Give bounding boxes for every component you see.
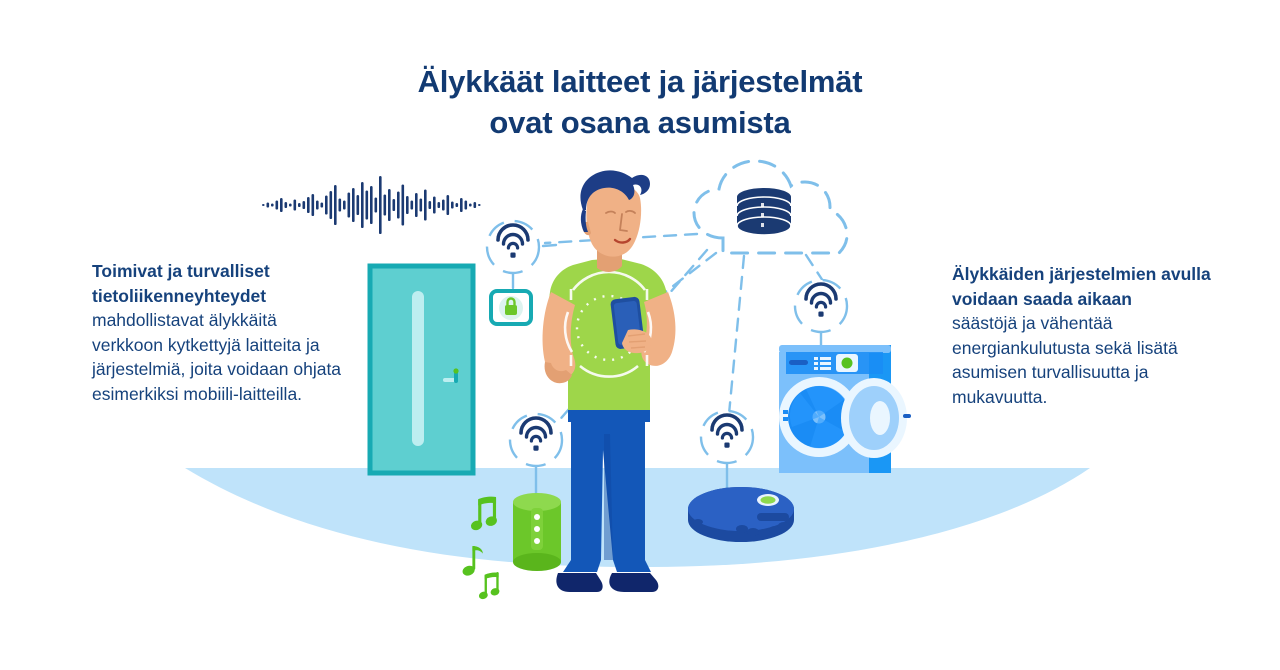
waveform-bar (402, 185, 405, 226)
waveform-bar (478, 204, 481, 206)
waveform-bar (307, 197, 310, 213)
waveform-bar (357, 195, 360, 215)
waveform-bar (397, 192, 400, 219)
waveform-bar (267, 203, 270, 208)
waveform-bar (438, 202, 441, 208)
wifi-badge-washer (795, 280, 847, 332)
waveform-bar (361, 182, 364, 228)
wifi-badge-speaker (510, 414, 562, 466)
infographic-canvas: Älykkäät laitteet ja järjestelmät ovat o… (0, 0, 1280, 670)
robot-vacuum (688, 487, 794, 542)
waveform-bar (370, 186, 373, 224)
page-title-line1: Älykkäät laitteet ja järjestelmät (418, 64, 863, 99)
waveform-bar (456, 203, 459, 207)
text-left-lead: Toimivat ja turvalliset tietoliikenneyht… (92, 259, 344, 308)
waveform-bar (433, 197, 436, 214)
waveform-bar (276, 201, 279, 210)
waveform-bar (429, 201, 432, 209)
wifi-badge-vacuum (701, 411, 753, 463)
waveform-bar (469, 204, 472, 207)
waveform-bar (352, 188, 355, 222)
text-right-body: säästöjä ja vähentää energiankulutusta s… (952, 313, 1178, 407)
waveform-bar (474, 202, 477, 208)
page-title: Älykkäät laitteet ja järjestelmät ovat o… (0, 62, 1280, 144)
waveform-bar (406, 196, 409, 214)
waveform-bar (442, 200, 445, 211)
waveform-bar (388, 189, 391, 221)
waveform-bar (330, 191, 333, 219)
waveform-bar (424, 190, 427, 221)
waveform-bar (271, 204, 274, 207)
waveform-bar (325, 196, 328, 215)
waveform-bar (447, 195, 450, 215)
waveform-bar (460, 198, 463, 212)
waveform-bar (303, 201, 306, 209)
lock-badge (491, 291, 531, 324)
waveform-bar (366, 191, 369, 220)
waveform-bar (321, 203, 324, 208)
waveform-bar (379, 176, 382, 234)
waveform-bar (339, 199, 342, 212)
waveform-bar (262, 204, 265, 206)
database-icon (737, 188, 791, 235)
waveform-bar (298, 203, 301, 207)
text-right-lead: Älykkäiden järjestelmien avulla voidaan … (952, 262, 1220, 311)
waveform-bar (285, 202, 288, 208)
waveform-bar (343, 201, 346, 210)
text-left-body: mahdollistavat älykkäitä verkkoon kytket… (92, 310, 341, 404)
smart-speaker (513, 493, 561, 571)
waveform-bar (465, 201, 468, 210)
waveform-bar (348, 193, 351, 218)
waveform-bar (289, 204, 292, 207)
waveform-bar (375, 198, 378, 213)
smart-door (370, 266, 473, 473)
waveform-bar (334, 185, 337, 225)
waveform-bar (384, 195, 387, 216)
wifi-badge-door (487, 221, 539, 273)
waveform-bar (420, 199, 423, 212)
text-block-right: Älykkäiden järjestelmien avulla voidaan … (952, 262, 1220, 409)
page-title-line2: ovat osana asumista (0, 103, 1280, 144)
text-block-left: Toimivat ja turvalliset tietoliikenneyht… (92, 259, 344, 406)
waveform-bar (451, 202, 454, 209)
waveform-bar (316, 201, 319, 210)
waveform-bar (312, 194, 315, 216)
waveform-bar (294, 200, 297, 211)
waveform-bar (411, 201, 414, 210)
waveform-bar (280, 198, 283, 212)
waveform-bar (393, 199, 396, 211)
waveform-bar (415, 193, 418, 217)
